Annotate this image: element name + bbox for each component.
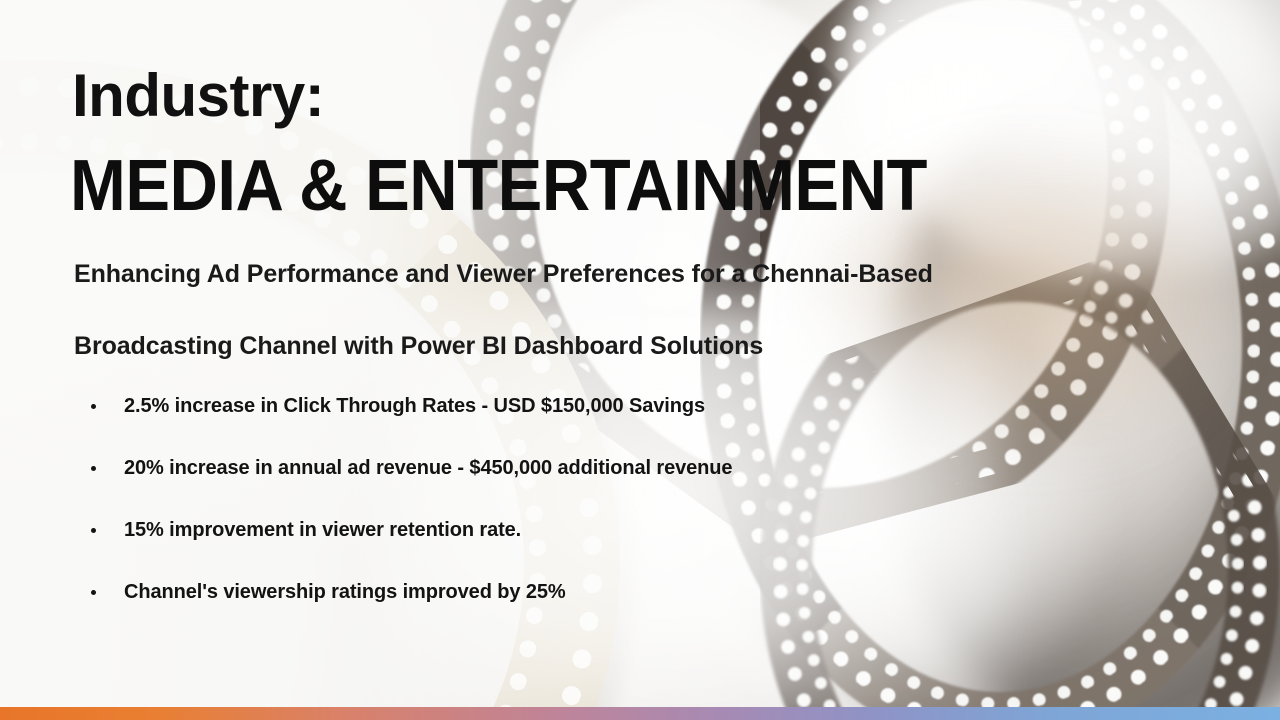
list-item-label: 2.5% increase in Click Through Rates - U… bbox=[124, 395, 705, 417]
subtitle-line-1: Enhancing Ad Performance and Viewer Pref… bbox=[74, 262, 1184, 287]
bullet-dot-icon bbox=[91, 404, 96, 409]
subtitle-line-2: Broadcasting Channel with Power BI Dashb… bbox=[74, 334, 1184, 359]
list-item: 2.5% increase in Click Through Rates - U… bbox=[88, 396, 1138, 416]
bullet-dot-icon bbox=[91, 466, 96, 471]
slide-subtitle: Enhancing Ad Performance and Viewer Pref… bbox=[74, 262, 1184, 359]
industry-kicker: Industry: bbox=[72, 64, 324, 127]
list-item-label: 15% improvement in viewer retention rate… bbox=[124, 519, 521, 541]
highlights-list: 2.5% increase in Click Through Rates - U… bbox=[88, 396, 1138, 602]
page-title: MEDIA & ENTERTAINMENT bbox=[70, 150, 927, 223]
bullet-dot-icon bbox=[91, 590, 96, 595]
bullet-dot-icon bbox=[91, 528, 96, 533]
list-item-label: Channel's viewership ratings improved by… bbox=[124, 581, 566, 603]
list-item-label: 20% increase in annual ad revenue - $450… bbox=[124, 457, 732, 479]
presentation-slide: Industry: MEDIA & ENTERTAINMENT Enhancin… bbox=[0, 0, 1280, 720]
bottom-accent-bar bbox=[0, 707, 1280, 720]
list-item: 15% improvement in viewer retention rate… bbox=[88, 520, 1138, 540]
list-item: 20% increase in annual ad revenue - $450… bbox=[88, 458, 1138, 478]
list-item: Channel's viewership ratings improved by… bbox=[88, 582, 1138, 602]
slide-content: Industry: MEDIA & ENTERTAINMENT Enhancin… bbox=[0, 0, 1280, 720]
